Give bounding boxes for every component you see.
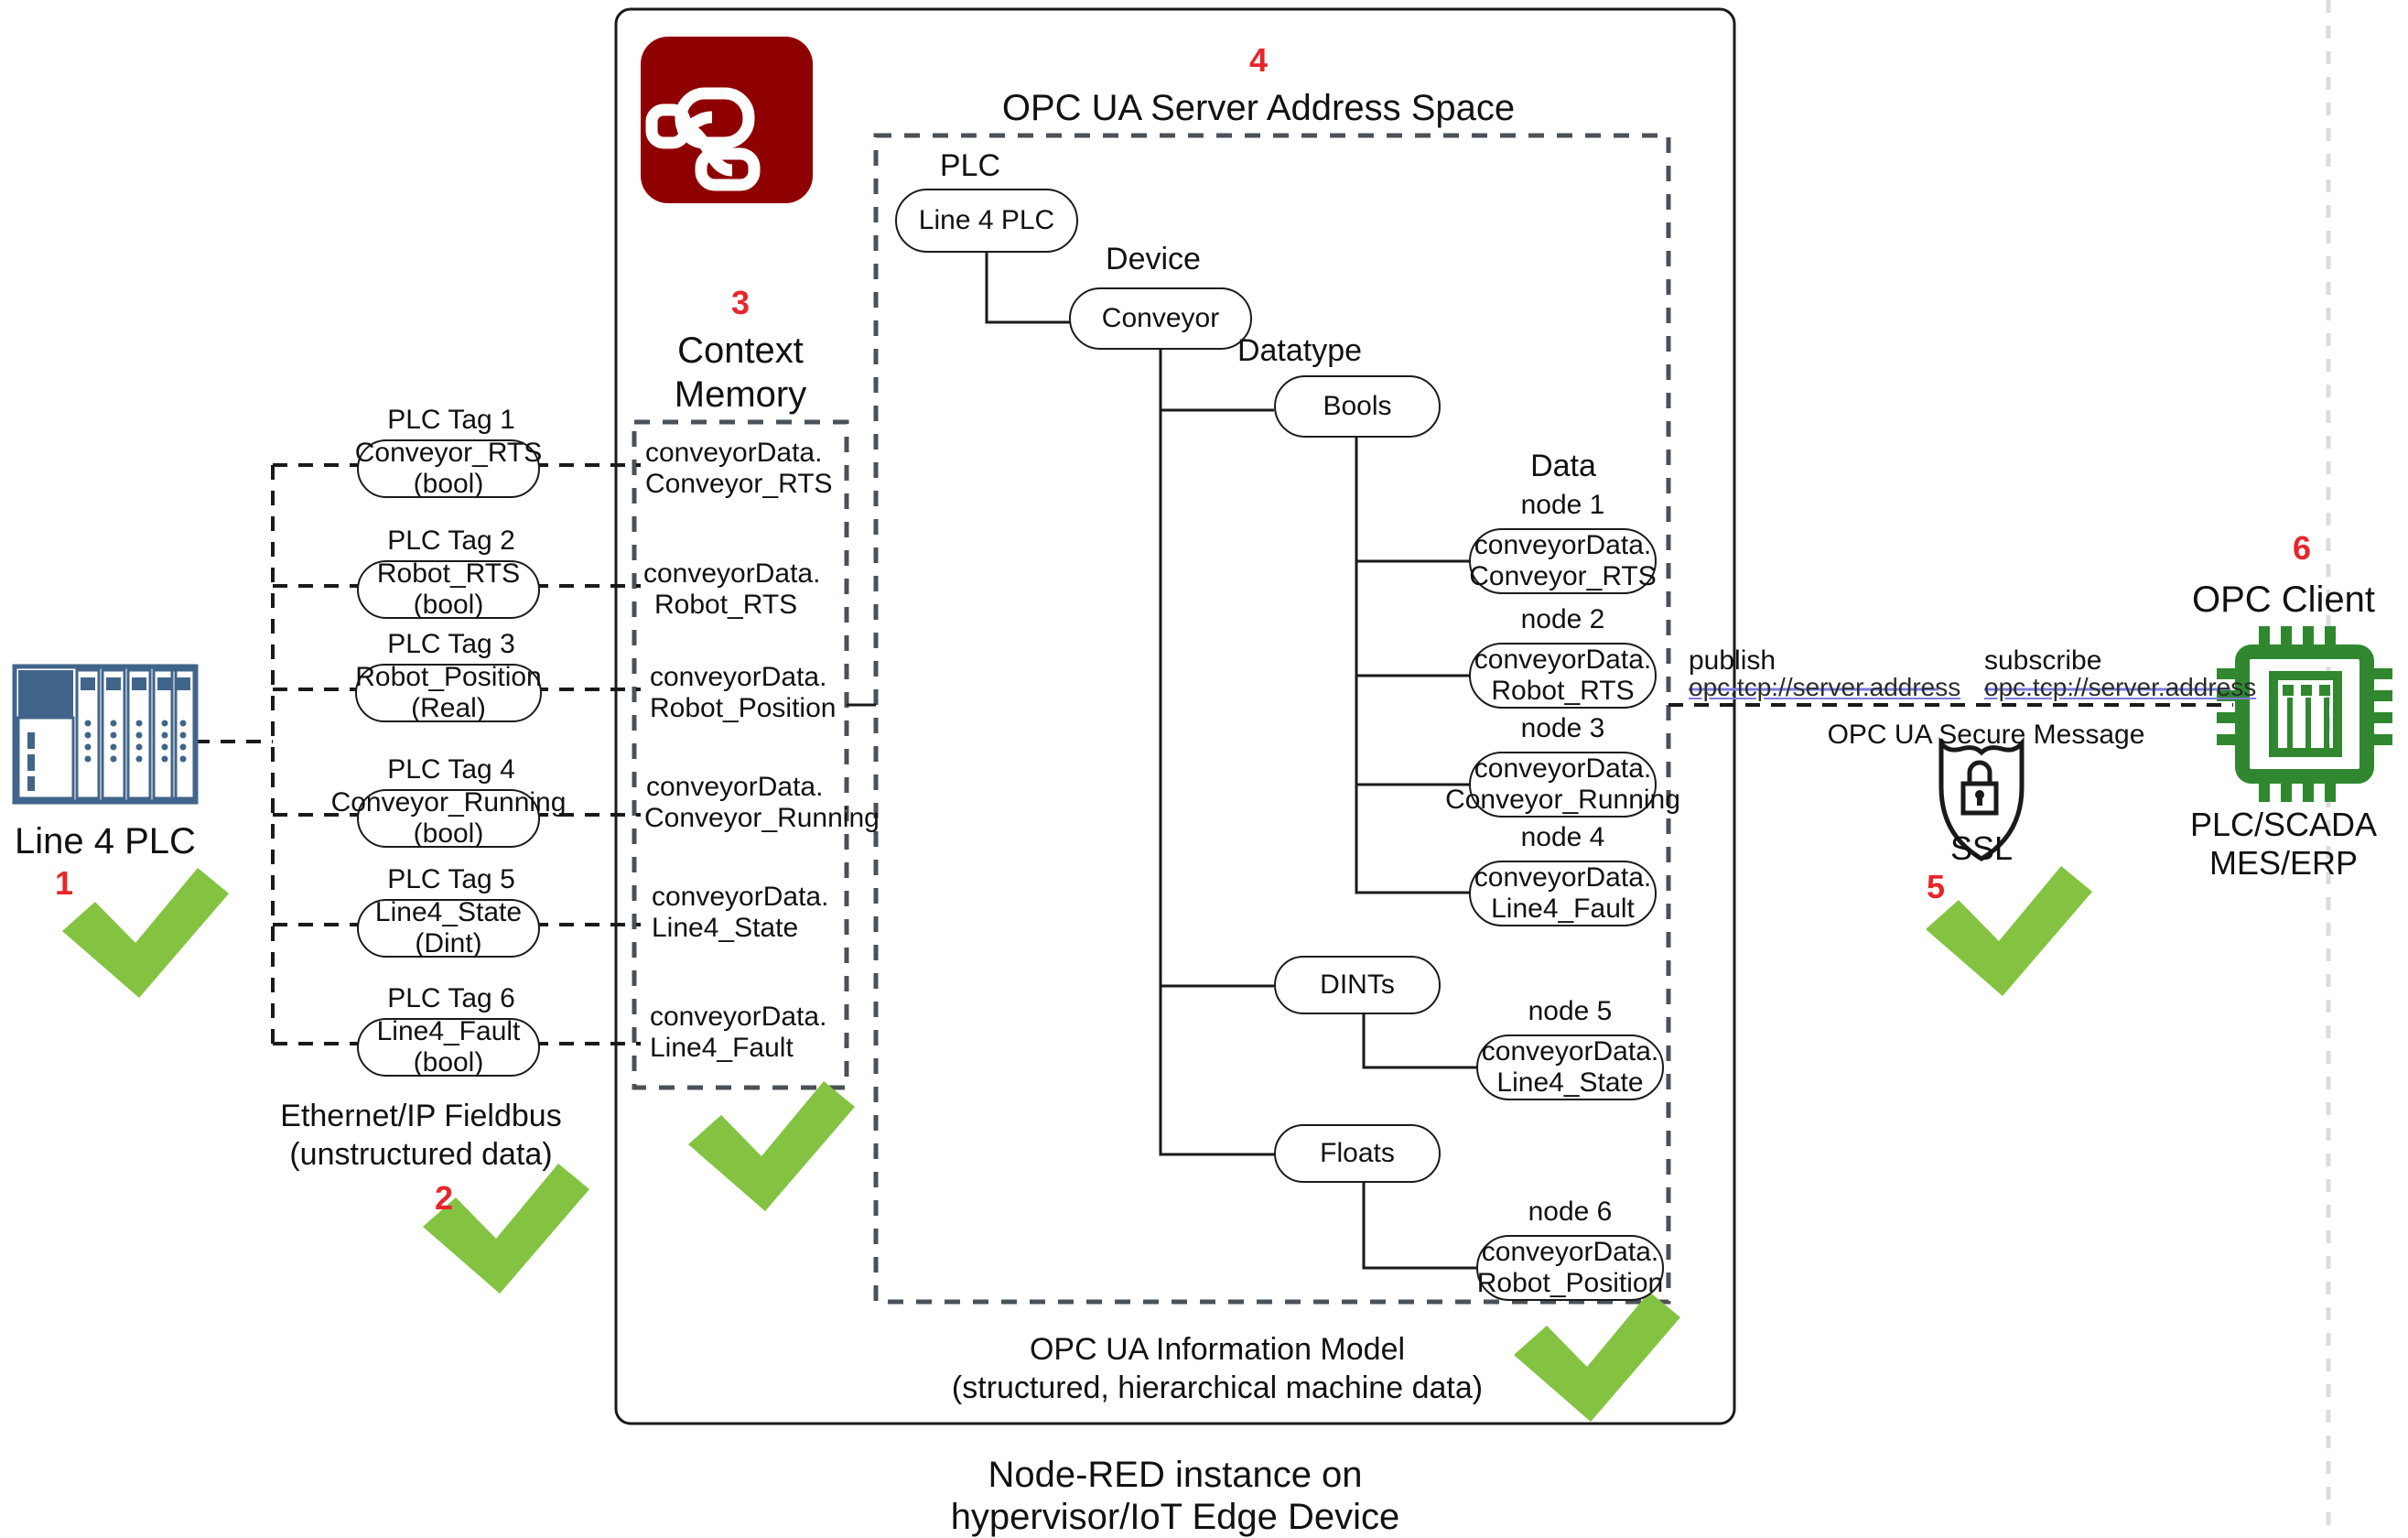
context-memory-title-line2: Memory <box>640 374 841 416</box>
client-title: OPC Client <box>2165 579 2403 621</box>
publish-url-text: opc.tcp://server.address <box>1689 673 1960 701</box>
check-mark-3 <box>688 1081 855 1211</box>
source-device-label: Line 4 PLC <box>0 820 211 862</box>
data-node-6-suffix: Robot_Position <box>1477 1268 1663 1299</box>
node-red-caption-line2: hypervisor/IoT Edge Device <box>901 1496 1450 1538</box>
data-node-1-pill[interactable]: conveyorData. Conveyor_RTS <box>1469 528 1657 594</box>
plc-tag-4-type: (bool) <box>414 818 484 850</box>
data-node-4-prefix: conveyorData. <box>1474 862 1651 894</box>
data-node-2-suffix: Robot_RTS <box>1491 676 1634 707</box>
plc-tag-3-type: (Real) <box>411 693 486 724</box>
data-node-6-prefix: conveyorData. <box>1482 1237 1658 1268</box>
context-memory-entry-4-prefix: conveyorData. <box>646 772 849 804</box>
plc-tag-3-caption: PLC Tag 3 <box>364 629 538 661</box>
data-node-6-caption: node 6 <box>1476 1197 1664 1229</box>
data-node-4-pill[interactable]: conveyorData. Line4_Fault <box>1469 861 1657 926</box>
plc-tag-6-type: (bool) <box>414 1047 484 1078</box>
ssl-label: SSL <box>1899 829 2064 868</box>
secure-message-label: OPC UA Secure Message <box>1794 720 2178 752</box>
context-memory-entry-3-suffix: Robot_Position <box>650 693 847 725</box>
plc-tag-1-pill[interactable]: Conveyor_RTS (bool) <box>357 439 540 498</box>
datatype-node-dints-label: DINTs <box>1320 969 1395 1001</box>
dints-to-node5-edge <box>1364 1013 1476 1067</box>
context-memory-entry-1-prefix: conveyorData. <box>645 438 842 470</box>
data-node-6-pill[interactable]: conveyorData. Robot_Position <box>1476 1235 1664 1301</box>
plc-group-label: PLC <box>906 148 1034 184</box>
data-node-3-pill[interactable]: conveyorData. Conveyor_Running <box>1469 752 1657 818</box>
plc-tag-1-name: Conveyor_RTS <box>355 438 543 469</box>
plc-tag-3-pill[interactable]: Robot_Position (Real) <box>355 664 542 722</box>
bools-to-node3-edge <box>1356 676 1471 785</box>
data-node-4-suffix: Line4_Fault <box>1491 894 1635 925</box>
address-space-title: OPC UA Server Address Space <box>915 87 1602 129</box>
plc-tag-6-pill[interactable]: Line4_Fault (bool) <box>357 1018 540 1077</box>
datatype-node-dints-pill[interactable]: DINTs <box>1274 956 1441 1014</box>
fieldbus-caption-line2: (unstructured data) <box>256 1137 586 1173</box>
datatype-node-floats-pill[interactable]: Floats <box>1274 1124 1441 1183</box>
context-memory-title-line1: Context <box>640 330 841 372</box>
data-group-label: Data <box>1463 449 1664 484</box>
check-mark-4 <box>1514 1292 1680 1422</box>
plc-tag-1-caption: PLC Tag 1 <box>364 405 538 437</box>
data-node-3-suffix: Conveyor_Running <box>1445 785 1680 816</box>
data-node-1-caption: node 1 <box>1469 490 1657 522</box>
data-node-1-suffix: Conveyor_RTS <box>1469 561 1657 592</box>
plc-tag-2-type: (bool) <box>414 590 484 621</box>
datatype-node-floats-label: Floats <box>1320 1138 1395 1169</box>
data-node-3-prefix: conveyorData. <box>1474 753 1651 785</box>
context-memory-entry-3-prefix: conveyorData. <box>650 662 847 694</box>
context-memory-entry-1-suffix: Conveyor_RTS <box>645 469 842 501</box>
plc-tag-5-name: Line4_State <box>375 897 522 928</box>
client-caption-line1: PLC/SCADA <box>2165 806 2403 844</box>
plc-tag-5-caption: PLC Tag 5 <box>364 864 538 896</box>
context-memory-entry-6-suffix: Line4_Fault <box>650 1033 847 1065</box>
subscribe-url-text: opc.tcp://server.address <box>1984 673 2256 701</box>
context-memory-entry-4-suffix: Conveyor_Running <box>644 803 855 835</box>
context-memory-entry-5-prefix: conveyorData. <box>652 882 848 914</box>
context-memory-dashed-box <box>634 422 847 1088</box>
plc-tag-5-pill[interactable]: Line4_State (Dint) <box>357 899 540 958</box>
step-number-5: 5 <box>1908 868 1963 906</box>
data-node-1-prefix: conveyorData. <box>1474 530 1651 561</box>
data-node-2-prefix: conveyorData. <box>1474 644 1651 676</box>
conveyor-to-floats-edge <box>1161 986 1274 1154</box>
device-node-label: Conveyor <box>1102 303 1219 334</box>
information-model-caption-line1: OPC UA Information Model <box>915 1332 1519 1368</box>
context-memory-entry-5-suffix: Line4_State <box>652 913 848 945</box>
datatype-node-bools-label: Bools <box>1323 391 1391 422</box>
plc-to-conveyor-edge <box>987 253 1077 322</box>
plc-tag-2-pill[interactable]: Robot_RTS (bool) <box>357 560 540 619</box>
publish-url[interactable]: opc.tcp://server.address <box>1689 673 1963 702</box>
client-caption-line2: MES/ERP <box>2165 844 2403 883</box>
cpu-chip-icon <box>2217 626 2392 802</box>
fieldbus-caption-line1: Ethernet/IP Fieldbus <box>256 1099 586 1134</box>
step-number-1: 1 <box>37 864 92 903</box>
datatype-group-label: Datatype <box>1208 333 1391 369</box>
plc-node-label: Line 4 PLC <box>919 205 1054 236</box>
data-node-2-caption: node 2 <box>1469 604 1657 636</box>
device-group-label: Device <box>1071 242 1236 277</box>
step-number-2: 2 <box>416 1179 471 1218</box>
data-node-5-caption: node 5 <box>1476 996 1664 1028</box>
plc-tag-4-caption: PLC Tag 4 <box>364 754 538 786</box>
node-red-caption-line1: Node-RED instance on <box>901 1454 1450 1496</box>
diagram-canvas: .solid { stroke:#1a1a1a; stroke-width:3;… <box>0 0 2408 1533</box>
connector-layer: .solid { stroke:#1a1a1a; stroke-width:3;… <box>0 0 2408 1533</box>
context-memory-entry-6-prefix: conveyorData. <box>650 1002 847 1034</box>
plc-tag-6-name: Line4_Fault <box>377 1016 521 1047</box>
conveyor-to-dints-edge <box>1161 410 1274 986</box>
subscribe-url[interactable]: opc.tcp://server.address <box>1984 673 2259 702</box>
data-node-3-caption: node 3 <box>1469 713 1657 745</box>
datatype-node-bools-pill[interactable]: Bools <box>1274 375 1441 438</box>
plc-rack-icon <box>15 666 196 802</box>
context-memory-entry-2-suffix: Robot_RTS <box>654 590 851 622</box>
plc-tag-6-caption: PLC Tag 6 <box>364 983 538 1015</box>
step-number-6: 6 <box>2274 529 2329 568</box>
data-node-2-pill[interactable]: conveyorData. Robot_RTS <box>1469 643 1657 709</box>
plc-tag-2-caption: PLC Tag 2 <box>364 525 538 558</box>
context-memory-entry-2-prefix: conveyorData. <box>643 558 840 590</box>
data-node-5-pill[interactable]: conveyorData. Line4_State <box>1476 1034 1664 1100</box>
step-number-4: 4 <box>1231 41 1286 80</box>
data-node-4-caption: node 4 <box>1469 822 1657 854</box>
node-red-logo-icon <box>641 37 813 203</box>
plc-tag-1-type: (bool) <box>414 469 484 500</box>
plc-tag-4-pill[interactable]: Conveyor_Running (bool) <box>357 789 540 848</box>
plc-tag-3-name: Robot_Position <box>355 662 541 693</box>
plc-tag-4-name: Conveyor_Running <box>331 787 567 818</box>
plc-node-pill[interactable]: Line 4 PLC <box>895 189 1078 253</box>
data-node-5-suffix: Line4_State <box>1496 1067 1643 1099</box>
bools-to-node1-edge <box>1356 437 1471 561</box>
step-number-3: 3 <box>704 284 777 322</box>
plc-tag-2-name: Robot_RTS <box>377 558 520 590</box>
floats-to-node6-edge <box>1364 1181 1476 1268</box>
bools-to-node2-edge <box>1356 561 1471 676</box>
data-node-5-prefix: conveyorData. <box>1482 1036 1658 1067</box>
information-model-caption-line2: (structured, hierarchical machine data) <box>915 1370 1519 1406</box>
plc-tag-5-type: (Dint) <box>415 928 481 959</box>
